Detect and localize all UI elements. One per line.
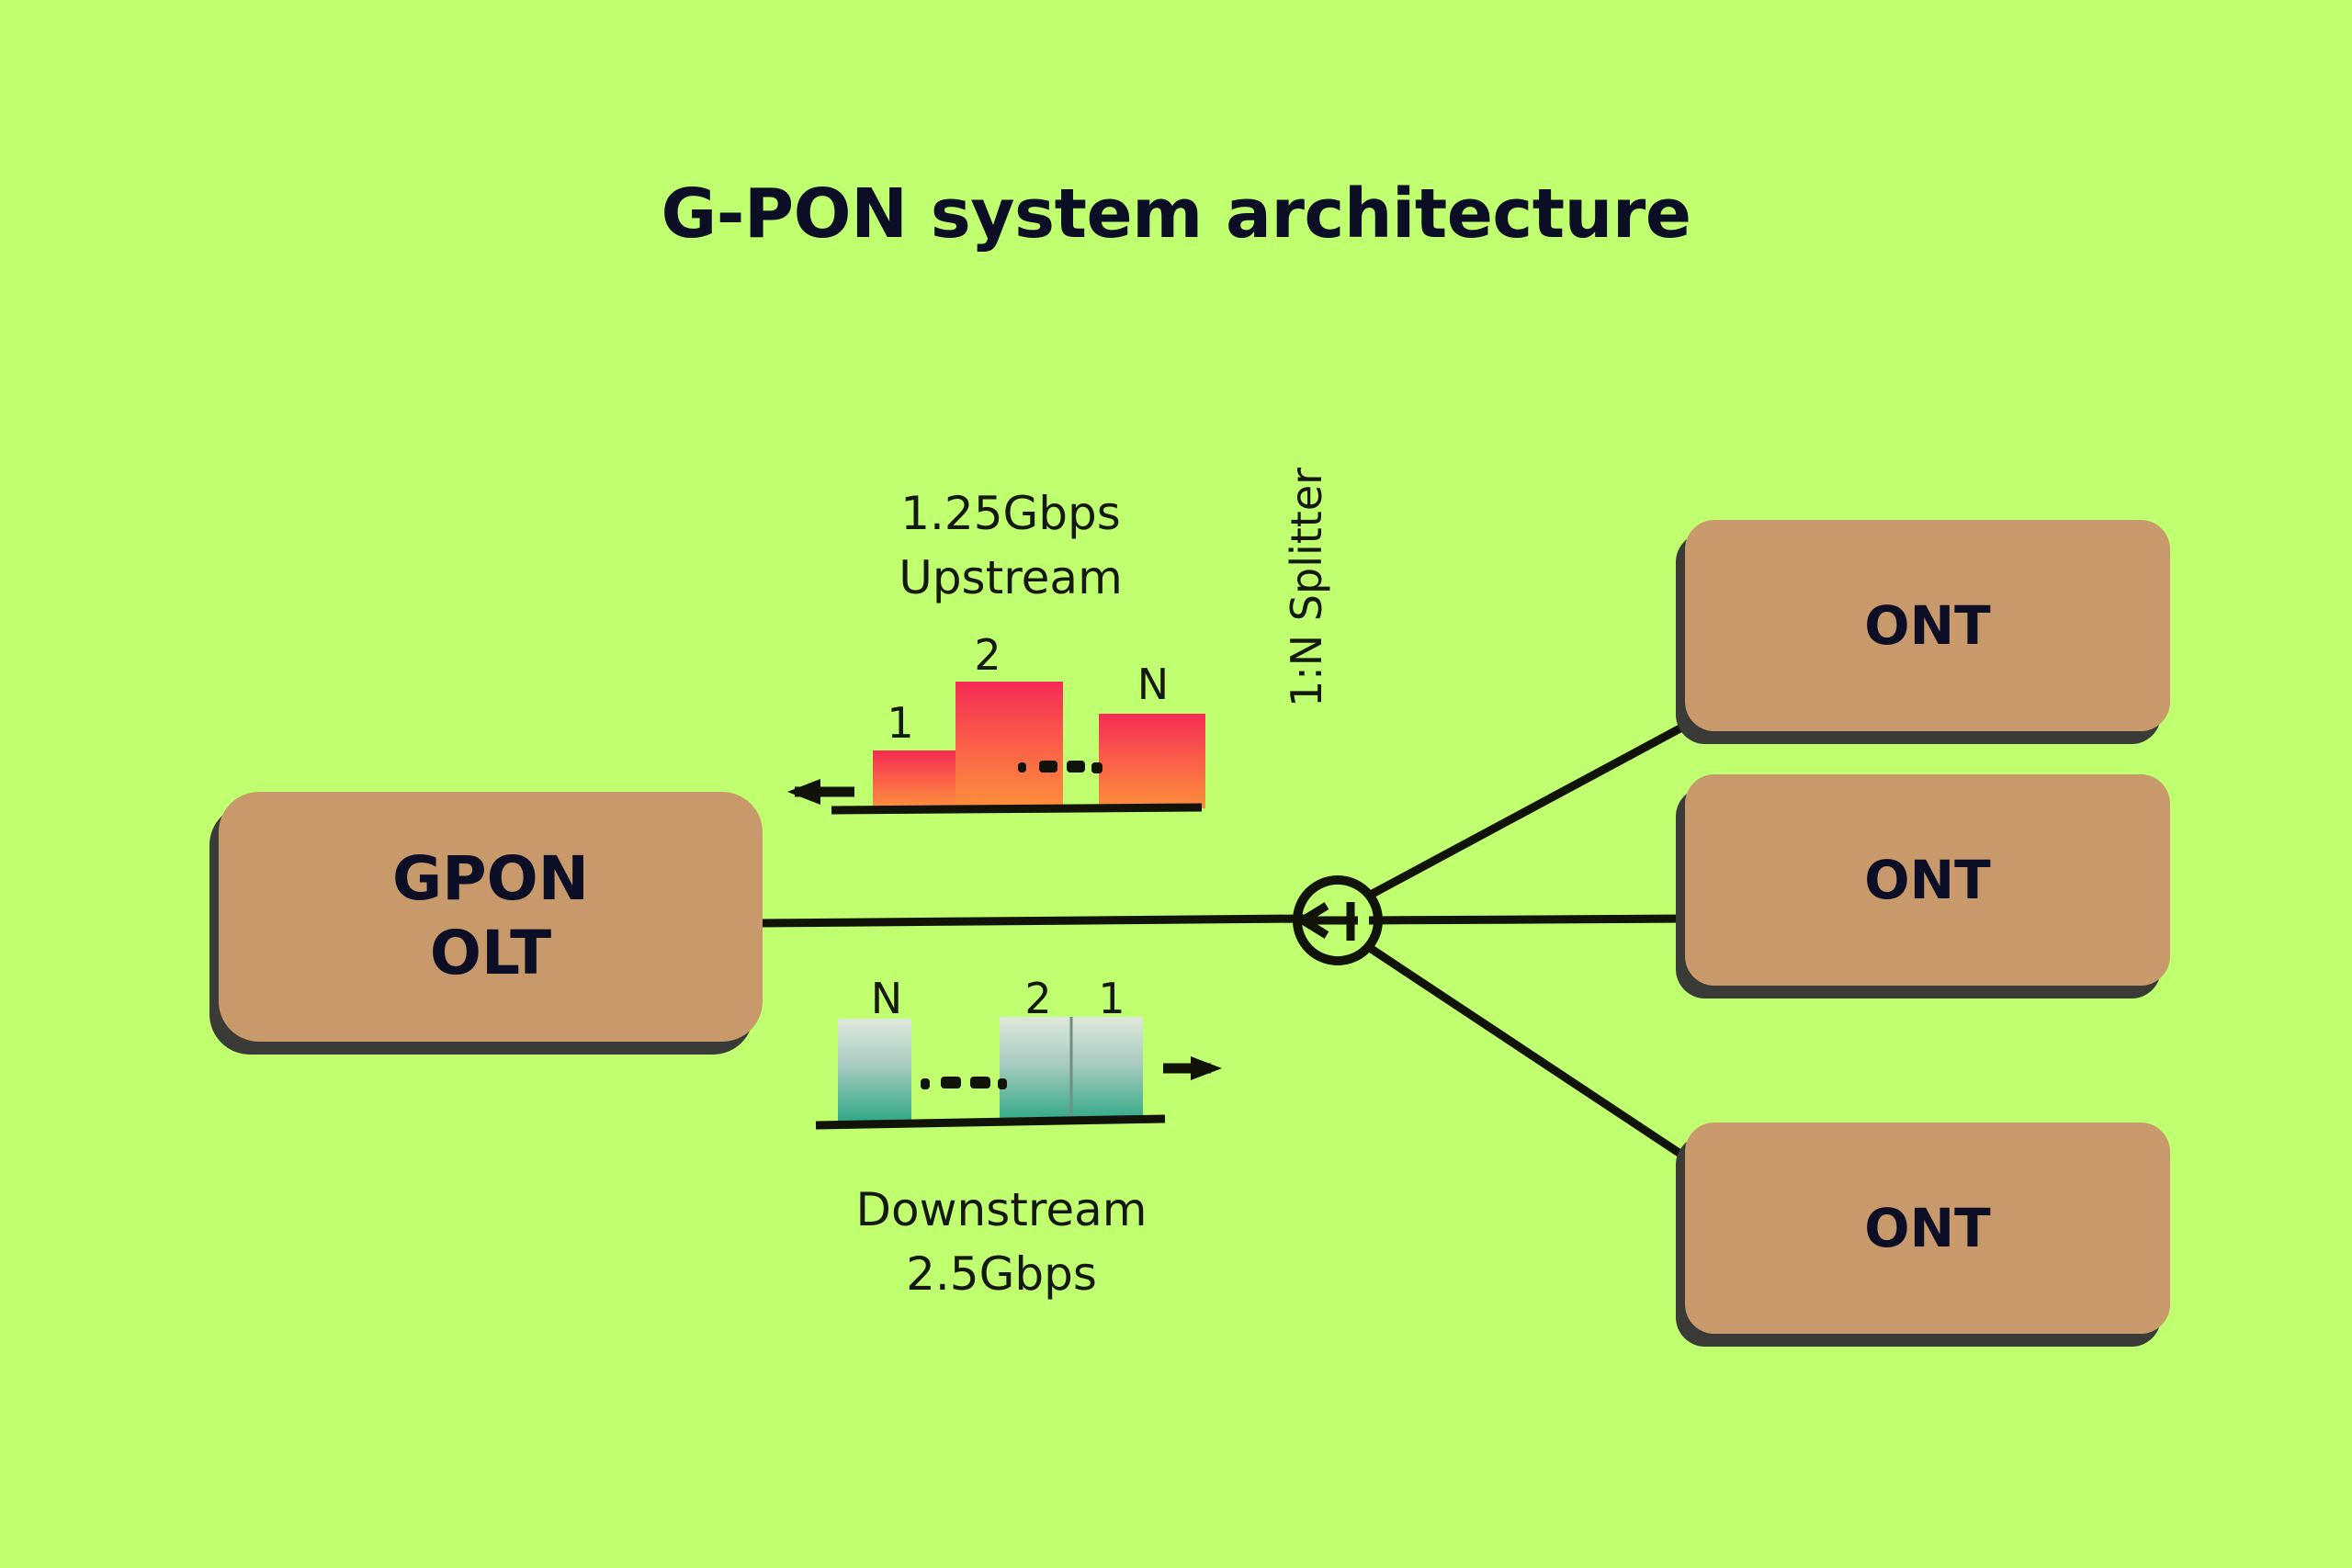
upstream-bar-2 — [955, 682, 1063, 808]
upstream-baseline — [831, 807, 1202, 810]
downstream-ellipsis-dots — [921, 1077, 1007, 1089]
ont-label-3: ONT — [1864, 1197, 1990, 1259]
upstream-bar-label-n: N — [1121, 660, 1185, 709]
upstream-direction-label: Upstream — [827, 551, 1194, 604]
branch-line-ont-1 — [1369, 724, 1689, 896]
ont-node-2[interactable]: ONT — [1685, 774, 2170, 986]
splitter-label: 1:N Splitter — [1282, 468, 1331, 707]
olt-node[interactable]: GPON OLT — [219, 792, 763, 1042]
upstream-bar-label-1: 1 — [873, 698, 928, 748]
downstream-direction-label: Downstream — [808, 1183, 1194, 1236]
downstream-rate-label: 2.5Gbps — [808, 1247, 1194, 1301]
diagram-canvas: G-PON system architecture GPON OLT ONT O… — [0, 0, 2352, 1568]
branch-line-ont-3 — [1367, 946, 1689, 1159]
downstream-bar-label-1: 1 — [1084, 974, 1139, 1023]
downstream-bar-1 — [1071, 1017, 1143, 1122]
ont-node-3[interactable]: ONT — [1685, 1122, 2170, 1334]
downstream-direction-arrow-icon — [1163, 1056, 1222, 1080]
downstream-bar-n — [838, 1019, 911, 1122]
upstream-bar-label-2: 2 — [960, 630, 1015, 680]
upstream-direction-arrow-icon — [787, 779, 854, 805]
downstream-bar-label-n: N — [854, 974, 919, 1023]
branch-line-ont-2 — [1369, 919, 1689, 920]
olt-label-line-2: OLT — [430, 917, 551, 991]
page-title: G-PON system architecture — [0, 175, 2352, 254]
ont-node-1[interactable]: ONT — [1685, 520, 2170, 731]
olt-label-line-1: GPON — [392, 842, 589, 917]
upstream-bar-n — [1099, 714, 1205, 808]
downstream-bar-2 — [1000, 1017, 1071, 1122]
ont-label-1: ONT — [1864, 594, 1990, 657]
ont-label-2: ONT — [1864, 849, 1990, 911]
trunk-line — [757, 919, 1305, 923]
splitter-left-arrow-icon — [1303, 902, 1358, 941]
downstream-bar-label-2: 2 — [1011, 974, 1066, 1023]
upstream-rate-label: 1.25Gbps — [827, 487, 1194, 540]
